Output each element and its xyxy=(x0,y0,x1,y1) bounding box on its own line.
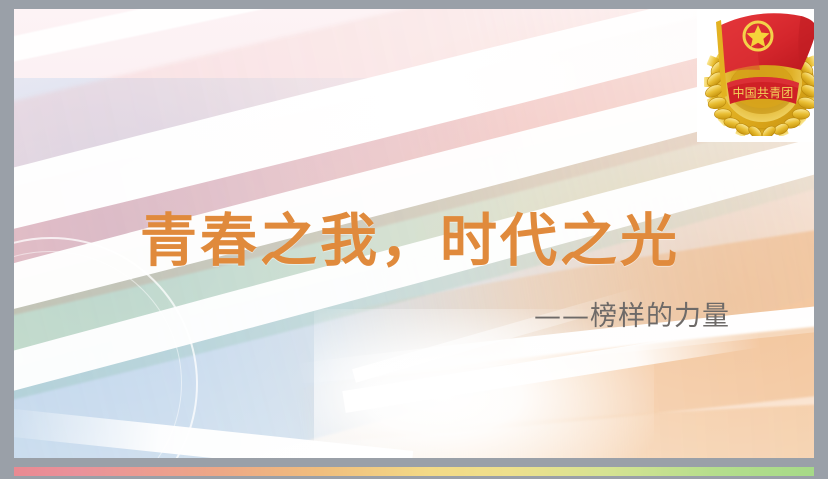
slide-canvas: 青春之我，时代之光 ——榜样的力量 xyxy=(14,9,814,458)
slide-title: 青春之我，时代之光 xyxy=(140,195,680,277)
bottom-rainbow-strip xyxy=(14,467,814,476)
emblem-banner-text: 中国共青团 xyxy=(732,85,793,100)
communist-youth-league-emblem-icon: 中国共青团 xyxy=(697,9,814,136)
presentation-slide: 青春之我，时代之光 ——榜样的力量 xyxy=(0,0,828,479)
slide-subtitle: ——榜样的力量 xyxy=(534,294,730,333)
emblem-container: 中国共青团 xyxy=(697,9,814,142)
